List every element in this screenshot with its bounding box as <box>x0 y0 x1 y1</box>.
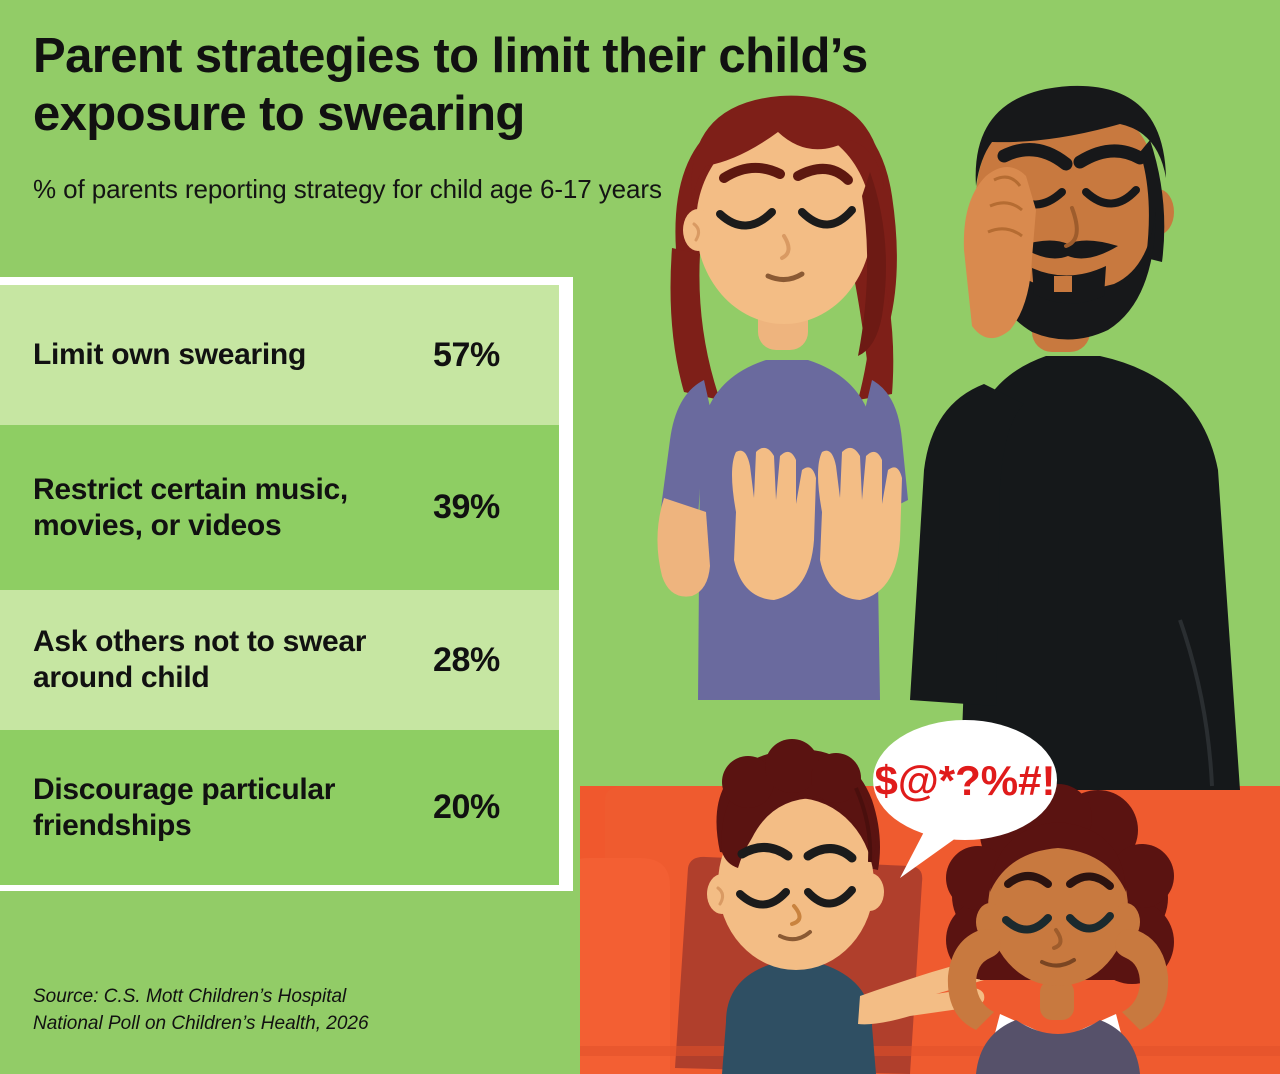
mother-hand-left <box>732 448 816 600</box>
source-line-2: National Poll on Children’s Health, 2026 <box>33 1010 369 1038</box>
strategy-percentage: 57% <box>433 336 541 375</box>
strategy-percentage: 39% <box>433 488 541 527</box>
strategy-percentage: 20% <box>433 788 541 827</box>
strategy-label: Restrict certain music, movies, or video… <box>33 472 433 544</box>
table-row: Ask others not to swear around child 28% <box>0 590 559 730</box>
source-line-1: Source: C.S. Mott Children’s Hospital <box>33 983 369 1011</box>
strategy-label: Limit own swearing <box>33 337 433 373</box>
table-row: Discourage particular friendships 20% <box>0 730 559 885</box>
table-row: Restrict certain music, movies, or video… <box>0 425 559 590</box>
strategy-table: Limit own swearing 57% Restrict certain … <box>0 277 573 891</box>
header: Parent strategies to limit their child’s… <box>33 28 1033 205</box>
strategy-percentage: 28% <box>433 641 541 680</box>
page-title: Parent strategies to limit their child’s… <box>33 28 993 144</box>
strategy-label: Discourage particular friendships <box>33 772 433 844</box>
page-subtitle: % of parents reporting strategy for chil… <box>33 174 1033 205</box>
source-citation: Source: C.S. Mott Children’s Hospital Na… <box>33 983 369 1038</box>
table-row: Limit own swearing 57% <box>0 285 559 425</box>
strategy-label: Ask others not to swear around child <box>33 624 433 696</box>
speech-bubble-text: $@*?%#! <box>874 757 1055 804</box>
mother-hand-right <box>818 448 902 600</box>
